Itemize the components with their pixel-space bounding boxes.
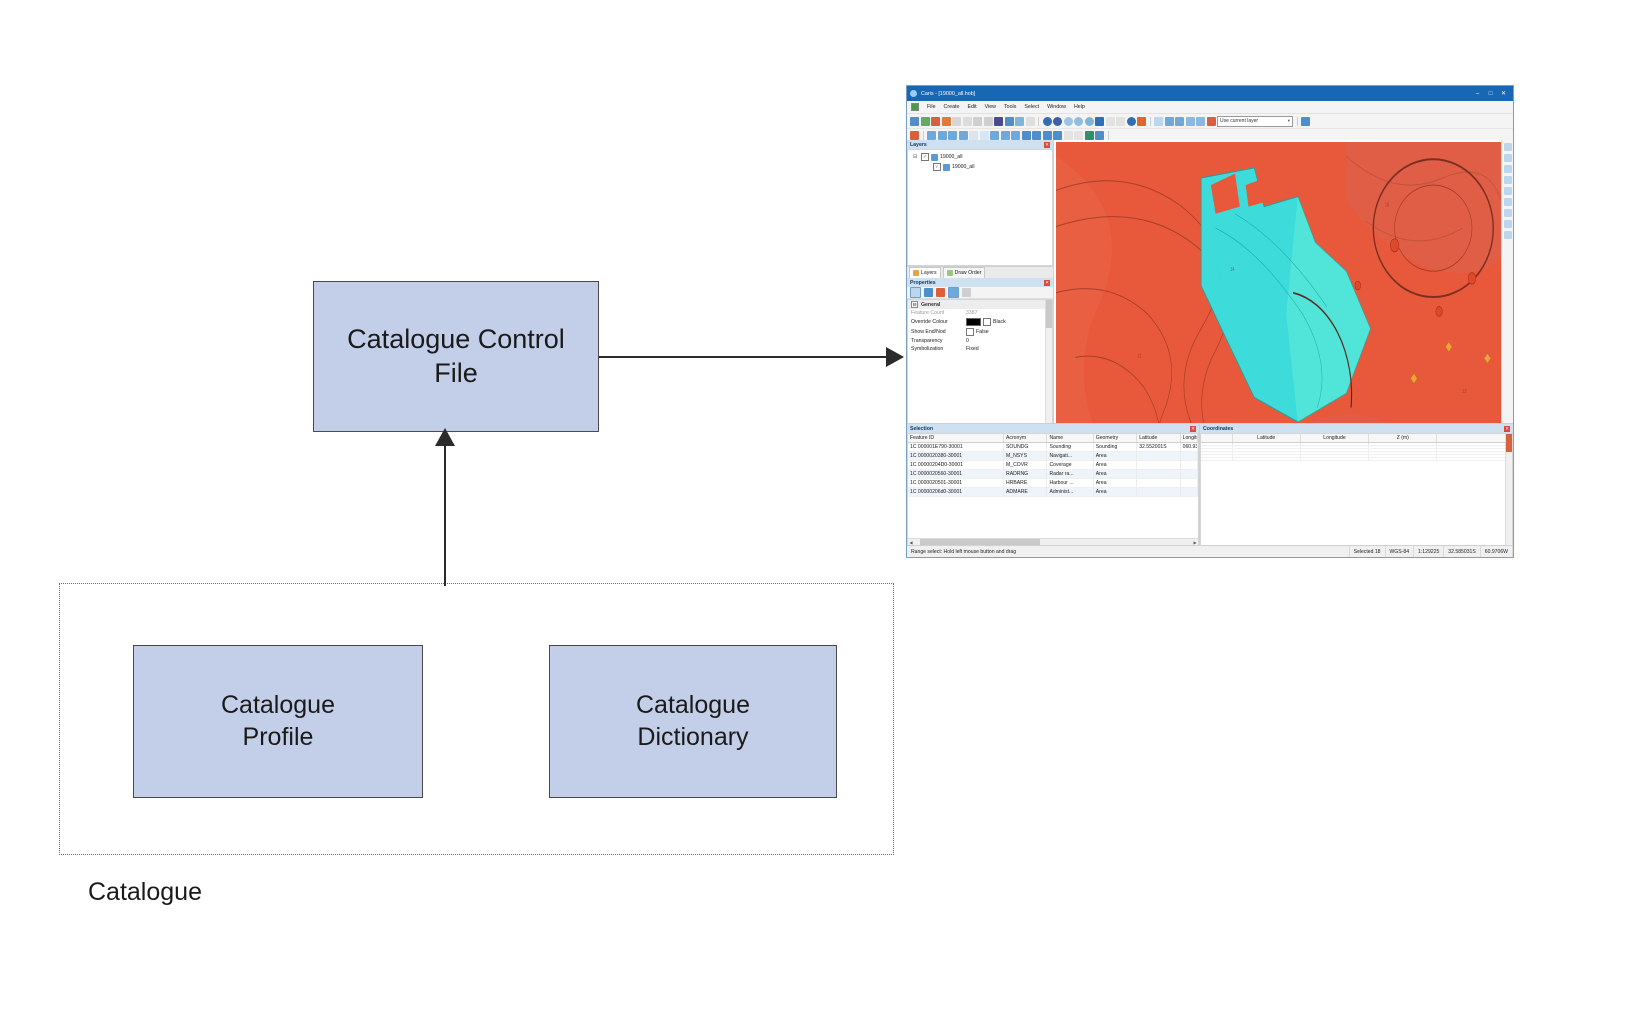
create-point-icon[interactable] [927, 131, 936, 140]
table-row: 1C 000001E790-30001 SOUNDG Sounding Soun… [908, 443, 1198, 452]
map-query-icon[interactable] [1504, 176, 1512, 184]
arrow-ccf-to-app-head [886, 347, 904, 367]
layers-panel-title: Layers [910, 142, 927, 148]
table-row [1201, 458, 1512, 461]
current-layer-value: Use current layer [1220, 118, 1258, 124]
deselect-icon[interactable] [1207, 117, 1216, 126]
cell-z[interactable] [1369, 458, 1437, 461]
select-pointer-icon[interactable] [1154, 117, 1163, 126]
toolbar-row-1: Use current layer ▾ [907, 114, 1513, 129]
toolbar-separator [1038, 117, 1039, 126]
create-curve-icon[interactable] [959, 131, 968, 140]
split-icon[interactable] [990, 131, 999, 140]
node-catalogue-control-file[interactable]: Catalogue Control File [313, 281, 599, 432]
document-icon [911, 103, 919, 111]
cell-feature-id[interactable]: 1C 00000204D0-30001 [908, 461, 1004, 470]
map-zoom-icon[interactable] [1504, 165, 1512, 173]
node-delete-icon[interactable] [1043, 131, 1052, 140]
layer-visibility-checkbox[interactable]: ✓ [933, 163, 941, 171]
table-row: 1C 0000020501-30001 HRBARE Harbour ... A… [908, 479, 1198, 488]
cell-name: Administ... [1047, 488, 1093, 497]
cell-longitude [1180, 470, 1197, 479]
reshape-icon[interactable] [1074, 131, 1083, 140]
cell-acronym: M_COVR [1004, 461, 1047, 470]
col-longitude[interactable]: Longitu [1180, 434, 1197, 443]
cell-latitude: 32.552001S [1137, 443, 1180, 452]
menu-item-select[interactable]: Select [1024, 104, 1039, 110]
select-tool-group [1154, 117, 1216, 126]
map-pan-icon[interactable] [1504, 154, 1512, 162]
cell-acronym: SOUNDG [1004, 443, 1047, 452]
override-colour-checkbox[interactable] [983, 318, 991, 326]
scrollbar-thumb[interactable] [1506, 434, 1512, 452]
layer-visibility-checkbox[interactable]: ✓ [921, 153, 929, 161]
cell-feature-id[interactable]: 1C 000001E790-30001 [908, 443, 1004, 452]
layer-tree-item[interactable]: ⊟ ✓ 19000_all [913, 153, 1052, 161]
trim-icon[interactable] [1011, 131, 1020, 140]
coordinates-scrollbar[interactable] [1505, 434, 1512, 545]
cell-feature-id[interactable]: 1C 0000020501-30001 [908, 479, 1004, 488]
edit-tool-icon[interactable] [910, 131, 919, 140]
coordinates-table-container[interactable]: Latitude Longitude Z (m) [1200, 433, 1513, 546]
merge-icon[interactable] [1001, 131, 1010, 140]
node-move-icon[interactable] [1022, 131, 1031, 140]
architecture-diagram: Catalogue Control File Catalogue Profile… [0, 0, 950, 1021]
cell-latitude [1137, 488, 1180, 497]
col-name[interactable]: Name [1047, 434, 1093, 443]
property-value: 0 [966, 338, 969, 344]
svg-text:14: 14 [1230, 267, 1235, 274]
properties-toolbar [907, 287, 1053, 299]
zoom-select-icon[interactable] [1095, 117, 1104, 126]
cell-acronym: HRBARE [1004, 479, 1047, 488]
window-titlebar: Caris - [19000_all.hob] – □ ✕ [907, 86, 1513, 101]
open-icon[interactable] [921, 117, 930, 126]
cell-feature-id[interactable]: 1C 0000020560-30001 [908, 470, 1004, 479]
geometry-tool-group [927, 131, 1104, 140]
tab-draw-order-label: Draw Order [955, 270, 982, 276]
menu-item-help[interactable]: Help [1074, 104, 1085, 110]
scroll-left-icon[interactable]: ◀ [908, 540, 914, 545]
toolbar-separator [1297, 117, 1298, 126]
menu-item-tools[interactable]: Tools [1004, 104, 1016, 110]
select-line-icon[interactable] [1165, 117, 1174, 126]
next-view-icon[interactable] [1116, 117, 1125, 126]
table-row: 1C 00000204D0-30001 M_COVR Coverage Area [908, 461, 1198, 470]
svg-text:12: 12 [1137, 353, 1142, 360]
cell-longitude [1180, 452, 1197, 461]
menu-item-edit[interactable]: Edit [967, 104, 976, 110]
toolbar-separator [1150, 117, 1151, 126]
col-longitude[interactable]: Longitude [1300, 434, 1368, 443]
coordinates-panel-close-icon[interactable]: ✕ [1504, 426, 1510, 432]
layer-label: 19000_all [952, 164, 975, 170]
app-icon [910, 90, 917, 97]
cell-feature-id[interactable]: 1C 00000206d0-30001 [908, 488, 1004, 497]
create-line-icon[interactable] [938, 131, 947, 140]
menu-item-view[interactable]: View [985, 104, 996, 110]
cell-longitude[interactable] [1300, 458, 1368, 461]
new-icon[interactable] [910, 117, 919, 126]
property-key: Symbolization [911, 346, 963, 352]
layers-tree[interactable]: ⊟ ✓ 19000_all ✓ 19000_all [907, 149, 1053, 266]
map-layer-icon[interactable] [1504, 143, 1512, 151]
toolbar-separator [1108, 131, 1109, 140]
node-add-icon[interactable] [1032, 131, 1041, 140]
selection-panel-header: Selection ✕ [907, 424, 1199, 433]
navigation-tool-group [1043, 117, 1147, 126]
menu-item-create[interactable]: Create [944, 104, 960, 110]
arrow-ccf-to-app-shaft [599, 356, 889, 358]
menu-bar: File Create Edit View Tools Select Windo… [907, 101, 1513, 114]
property-row: Feature Count 3387 [908, 309, 1052, 317]
table-row: 1C 00000206d0-30001 ADMARE Administ... A… [908, 488, 1198, 497]
cell-name: Navigati... [1047, 452, 1093, 461]
scrollbar-thumb[interactable] [1046, 300, 1052, 328]
create-polygon-icon[interactable] [980, 131, 989, 140]
cell-latitude [1137, 470, 1180, 479]
select-poly-icon[interactable] [1175, 117, 1184, 126]
categorized-view-icon[interactable] [910, 287, 921, 298]
map-symbol-icon[interactable] [1504, 220, 1512, 228]
properties-panel-header: Properties ✕ [907, 278, 1053, 287]
print-icon[interactable] [942, 117, 951, 126]
cell-spacer [1437, 458, 1512, 461]
table-row: 1C 0000020560-30001 RADRNG Radar ra... A… [908, 470, 1198, 479]
table-row: 1C 0000020380-30001 M_NSYS Navigati... A… [908, 452, 1198, 461]
table-header-row: Feature ID Acronym Name Geometry Latitud… [908, 434, 1198, 443]
globe-icon[interactable] [1043, 117, 1052, 126]
selection-panel-close-icon[interactable]: ✕ [1190, 426, 1196, 432]
status-bar: Range select: Hold left mouse button and… [907, 545, 1513, 557]
cell-acronym: RADRNG [1004, 470, 1047, 479]
info-icon[interactable] [1005, 117, 1014, 126]
tab-layers[interactable]: Layers [909, 267, 941, 278]
cell-latitude [1137, 452, 1180, 461]
refresh-icon[interactable] [1127, 117, 1136, 126]
validate-icon[interactable] [1085, 131, 1094, 140]
redo-icon[interactable] [984, 117, 993, 126]
layer-icon [931, 154, 938, 161]
status-latitude: 32.585031S [1444, 546, 1480, 557]
lock-icon[interactable] [994, 117, 1003, 126]
status-message: Range select: Hold left mouse button and… [907, 546, 1350, 557]
property-row[interactable]: Show End/Nod False [908, 327, 1052, 337]
draw-order-tab-icon [947, 270, 953, 276]
property-value: Fixed [966, 346, 979, 352]
coordinates-table: Latitude Longitude Z (m) [1201, 434, 1512, 461]
flag-icon[interactable] [1137, 117, 1146, 126]
col-feature-id[interactable]: Feature ID [908, 434, 1004, 443]
window-title: Caris - [19000_all.hob] [921, 91, 1471, 97]
cell-name: Radar ra... [1047, 470, 1093, 479]
svg-text:18: 18 [1385, 202, 1390, 209]
cell-geometry: Area [1093, 452, 1136, 461]
cell-latitude[interactable] [1232, 458, 1300, 461]
copy-icon[interactable] [952, 117, 961, 126]
minimize-button[interactable]: – [1471, 91, 1484, 97]
section-toggle-icon[interactable]: ⊟ [911, 301, 918, 308]
catalogue-group-caption: Catalogue [88, 878, 202, 907]
layer-settings-icon[interactable] [1301, 117, 1310, 126]
properties-icon[interactable] [1015, 117, 1024, 126]
previous-view-icon[interactable] [1106, 117, 1115, 126]
filter-icon[interactable] [936, 288, 945, 297]
select-box-icon[interactable] [1186, 117, 1195, 126]
col-z[interactable]: Z (m) [1369, 434, 1437, 443]
node-catalogue-control-file-label: Catalogue Control File [347, 323, 565, 391]
status-selected-count: Selected 18 [1350, 546, 1386, 557]
col-row-handle [1201, 434, 1232, 443]
coordinates-panel-header: Coordinates ✕ [1200, 424, 1513, 433]
close-button[interactable]: ✕ [1497, 90, 1510, 97]
status-longitude: 60.9706W [1481, 546, 1513, 557]
node-snap-icon[interactable] [1053, 131, 1062, 140]
map-settings-icon[interactable] [1504, 231, 1512, 239]
table-header-row: Latitude Longitude Z (m) [1201, 434, 1512, 443]
layer-tree-item[interactable]: ✓ 19000_all [925, 163, 1052, 171]
layers-panel-header: Layers ✕ [907, 140, 1053, 149]
arrow-catalogue-to-ccf-head [435, 428, 455, 446]
zoom-extent-icon[interactable] [1085, 117, 1094, 126]
cell-acronym: M_NSYS [1004, 452, 1047, 461]
property-value-text: Black [993, 319, 1006, 325]
cell-name: Sounding [1047, 443, 1093, 452]
map-label-icon[interactable] [1504, 209, 1512, 217]
select-circle-icon[interactable] [1196, 117, 1205, 126]
svg-text:22: 22 [1462, 389, 1467, 396]
menu-item-window[interactable]: Window [1047, 104, 1066, 110]
property-value: 3387 [966, 310, 978, 316]
col-latitude[interactable]: Latitude [1137, 434, 1180, 443]
undo-icon[interactable] [973, 117, 982, 126]
layers-tab-row: Layers Draw Order [907, 266, 1053, 278]
collapse-all-icon[interactable] [962, 288, 971, 297]
selection-panel: Selection ✕ Feature ID Acronym Name Geom… [907, 424, 1200, 546]
vertex-tool-icon[interactable] [1064, 131, 1073, 140]
cell-longitude [1180, 461, 1197, 470]
cell-geometry: Area [1093, 470, 1136, 479]
properties-section-general[interactable]: ⊟ General [908, 300, 1052, 309]
zoom-in-icon[interactable] [1064, 117, 1073, 126]
cell-name: Harbour ... [1047, 479, 1093, 488]
color-swatch[interactable] [966, 318, 981, 326]
property-key: Override Colour [911, 319, 963, 325]
cell-feature-id[interactable]: 1C 0000020380-30001 [908, 452, 1004, 461]
cell-geometry: Area [1093, 479, 1136, 488]
cell-acronym: ADMARE [1004, 488, 1047, 497]
cell-latitude [1137, 479, 1180, 488]
properties-panel-title: Properties [910, 280, 936, 286]
node-catalogue-dictionary-label: Catalogue Dictionary [636, 690, 750, 753]
scroll-right-icon[interactable]: ▶ [1192, 540, 1198, 545]
col-spacer [1437, 434, 1512, 443]
properties-panel-close-icon[interactable]: ✕ [1044, 280, 1050, 286]
coordinates-panel-title: Coordinates [1203, 426, 1233, 432]
maximize-button[interactable]: □ [1484, 91, 1497, 97]
map-grid-icon[interactable] [1504, 198, 1512, 206]
node-catalogue-profile-label: Catalogue Profile [221, 690, 335, 753]
cell-handle [1201, 458, 1232, 461]
create-arc-icon[interactable] [948, 131, 957, 140]
property-row[interactable]: Transparency 0 [908, 337, 1052, 345]
col-geometry[interactable]: Geometry [1093, 434, 1136, 443]
map-measure-icon[interactable] [1504, 187, 1512, 195]
cell-name: Coverage [1047, 461, 1093, 470]
bottom-dock: Selection ✕ Feature ID Acronym Name Geom… [907, 423, 1513, 546]
show-end-node-checkbox[interactable] [966, 328, 974, 336]
tab-draw-order[interactable]: Draw Order [943, 267, 986, 278]
file-tool-group [910, 117, 1035, 126]
save-icon[interactable] [931, 117, 940, 126]
property-key: Transparency [911, 338, 963, 344]
zoom-out-icon[interactable] [1074, 117, 1083, 126]
status-datum: WGS-84 [1386, 546, 1415, 557]
cell-geometry: Sounding [1093, 443, 1136, 452]
selection-hscrollbar[interactable]: ◀ ▶ [908, 538, 1198, 545]
property-key: Show End/Nod [911, 329, 963, 335]
selection-table: Feature ID Acronym Name Geometry Latitud… [908, 434, 1198, 497]
property-row[interactable]: Override Colour Black [908, 317, 1052, 327]
layer-icon [943, 164, 950, 171]
property-value[interactable]: Black [966, 318, 1006, 326]
property-row[interactable]: Symbolization Fixed [908, 345, 1052, 353]
pan-icon[interactable] [1053, 117, 1062, 126]
status-scale: 1:129225 [1414, 546, 1444, 557]
selection-table-container[interactable]: Feature ID Acronym Name Geometry Latitud… [907, 433, 1199, 546]
property-value[interactable]: False [966, 328, 989, 336]
expand-all-icon[interactable] [948, 287, 959, 298]
col-acronym[interactable]: Acronym [1004, 434, 1047, 443]
layers-tab-icon [913, 270, 919, 276]
chevron-down-icon[interactable]: ▾ [1288, 118, 1290, 124]
measure-icon[interactable] [1026, 117, 1035, 126]
current-layer-combo[interactable]: Use current layer ▾ [1217, 116, 1293, 127]
toolbar-separator [923, 131, 924, 140]
property-key: Feature Count [911, 310, 963, 316]
cell-longitude [1180, 479, 1197, 488]
cell-longitude: 060.930 [1180, 443, 1197, 452]
create-area-icon[interactable] [969, 131, 978, 140]
node-catalogue-profile[interactable]: Catalogue Profile [133, 645, 423, 798]
cell-longitude [1180, 488, 1197, 497]
node-catalogue-dictionary[interactable]: Catalogue Dictionary [549, 645, 837, 798]
menu-item-file[interactable]: File [927, 104, 936, 110]
arrow-catalogue-to-ccf-shaft [444, 442, 446, 586]
paste-icon[interactable] [963, 117, 972, 126]
layer-label: 19000_all [940, 154, 963, 160]
sort-az-icon[interactable] [924, 288, 933, 297]
topology-icon[interactable] [1095, 131, 1104, 140]
cell-geometry: Area [1093, 488, 1136, 497]
layers-panel-close-icon[interactable]: ✕ [1044, 142, 1050, 148]
property-value-text: False [976, 329, 989, 335]
col-latitude[interactable]: Latitude [1232, 434, 1300, 443]
selection-panel-title: Selection [910, 426, 933, 432]
tab-layers-label: Layers [921, 270, 937, 276]
cell-latitude [1137, 461, 1180, 470]
coordinates-panel: Coordinates ✕ Latitude Longitude Z (m) [1200, 424, 1513, 546]
expander-icon[interactable]: ⊟ [913, 154, 919, 160]
cell-geometry: Area [1093, 461, 1136, 470]
caris-application-window: Caris - [19000_all.hob] – □ ✕ File Creat… [906, 85, 1514, 558]
properties-section-label: General [921, 302, 940, 308]
